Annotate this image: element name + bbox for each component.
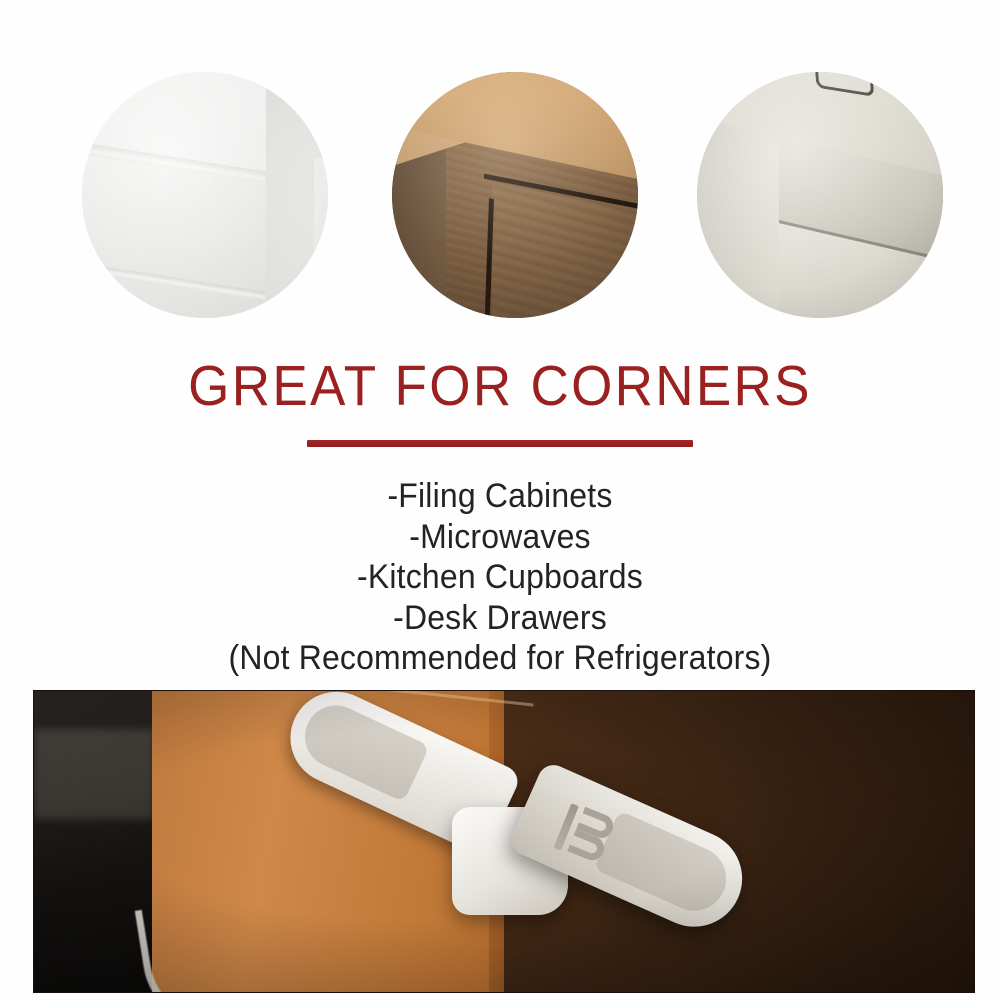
title-divider-wrapper — [0, 440, 1000, 447]
product-feature-page: GREAT FOR CORNERS -Filing Cabinets -Micr… — [0, 0, 1000, 1000]
wood-cabinet-shading — [392, 72, 638, 318]
page-title: GREAT FOR CORNERS — [35, 358, 965, 415]
list-item: -Microwaves — [30, 517, 970, 558]
corner-safety-lock — [284, 711, 744, 981]
list-item: -Kitchen Cupboards — [30, 557, 970, 598]
hero-power-cord — [135, 893, 270, 993]
list-item: -Filing Cabinets — [30, 476, 970, 517]
list-item-note: (Not Recommended for Refrigerators) — [30, 638, 970, 679]
lock-right-arm — [507, 760, 758, 942]
gallery-photo-wood-cabinet-corner — [392, 72, 638, 318]
gallery-photo-grey-filing-cabinet-corner — [697, 72, 943, 318]
grey-cabinet-scene — [697, 72, 943, 318]
white-cabinet-scene — [82, 72, 328, 318]
grey-cabinet-shading — [697, 72, 943, 318]
white-cabinet-shading — [82, 72, 328, 318]
feature-list: -Filing Cabinets -Microwaves -Kitchen Cu… — [0, 476, 1000, 679]
hero-product-photo — [33, 690, 975, 993]
list-item: -Desk Drawers — [30, 598, 970, 639]
gallery-photo-white-cabinet-corner — [82, 72, 328, 318]
title-divider — [307, 440, 693, 447]
circular-photo-gallery — [0, 72, 1000, 322]
hero-background-counter — [34, 729, 154, 819]
lock-left-arm-recess — [295, 695, 430, 802]
wood-cabinet-scene — [392, 72, 638, 318]
